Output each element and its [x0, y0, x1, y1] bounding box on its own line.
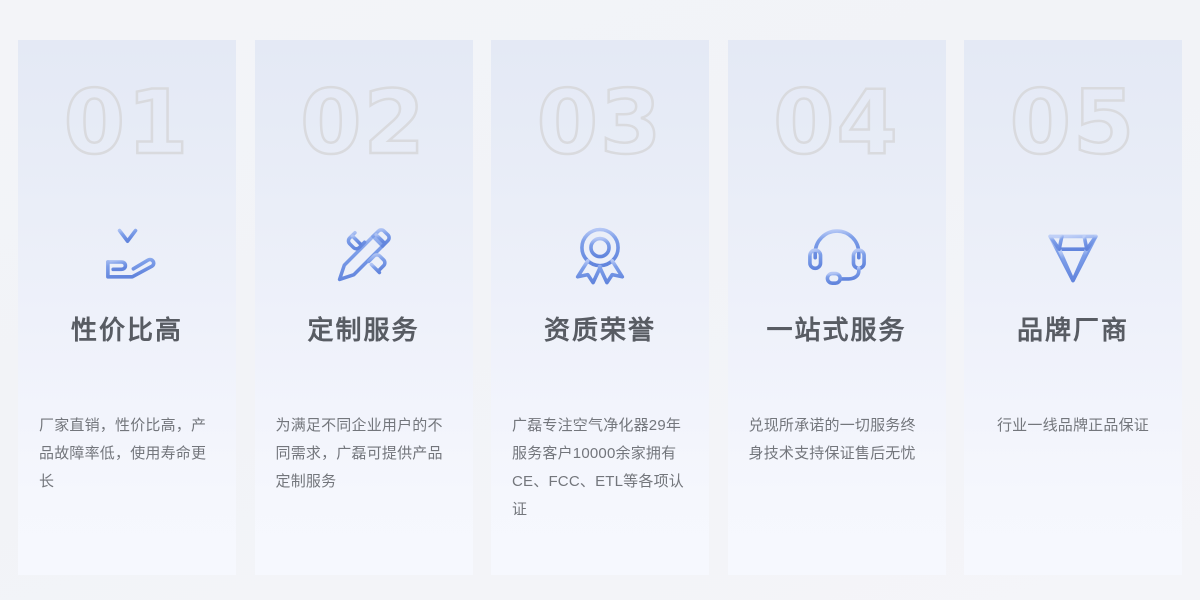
feature-card-04[interactable]: 04 一站式服务 兑现所承诺的一 — [728, 40, 946, 575]
hand-holding-yen-icon — [91, 219, 163, 291]
watermark-number: 03 — [537, 75, 663, 171]
card-title: 定制服务 — [307, 315, 419, 346]
watermark-number: 01 — [64, 75, 190, 171]
feature-card-03[interactable]: 03 资质荣誉 广磊专注空气净化器29年服务客户100 — [491, 40, 709, 575]
feature-card-01[interactable]: 01 — [18, 40, 236, 575]
crossed-pencils-icon — [328, 219, 400, 291]
card-title: 性价比高 — [71, 315, 183, 346]
feature-cards-board: 01 — [0, 0, 1200, 600]
card-description: 厂家直销，性价比高，产品故障率低，使用寿命更长 — [39, 412, 215, 496]
watermark-number: 02 — [300, 75, 426, 171]
watermark-number: 04 — [773, 75, 899, 171]
card-description: 为满足不同企业用户的不同需求，广磊可提供产品定制服务 — [276, 412, 452, 496]
card-title: 资质荣誉 — [544, 315, 656, 346]
watermark-number: 05 — [1010, 75, 1136, 171]
card-description: 广磊专注空气净化器29年服务客户10000余家拥有CE、FCC、ETL等各项认证 — [512, 412, 688, 524]
diamond-icon — [1037, 219, 1109, 291]
feature-card-05[interactable]: 05 品牌厂商 — [964, 40, 1182, 575]
card-title: 一站式服务 — [766, 315, 906, 346]
card-title: 品牌厂商 — [1017, 315, 1129, 346]
card-description: 行业一线品牌正品保证 — [985, 412, 1161, 440]
headset-icon — [801, 219, 873, 291]
card-description: 兑现所承诺的一切服务终身技术支持保证售后无忧 — [749, 412, 925, 468]
feature-card-02[interactable]: 02 — [255, 40, 473, 575]
award-ribbon-icon — [564, 219, 636, 291]
